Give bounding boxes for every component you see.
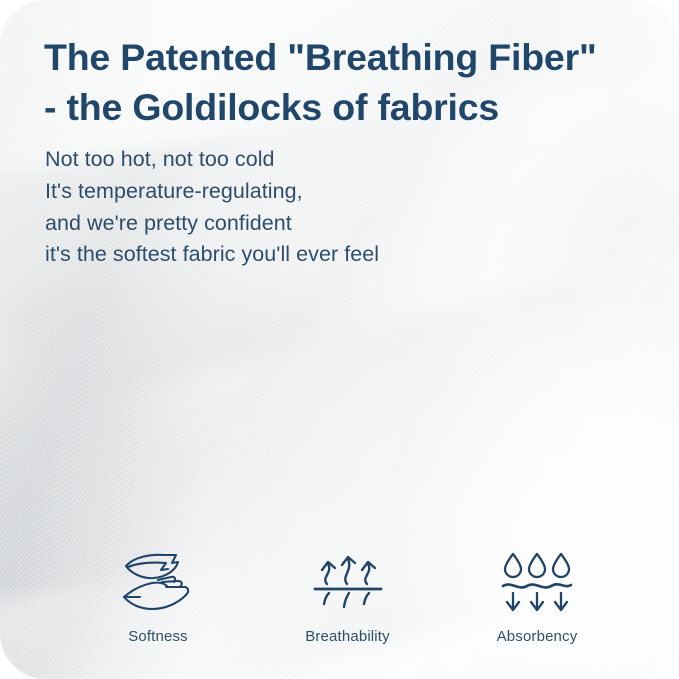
water-droplets-absorbing-icon (499, 551, 575, 613)
feature-label: Absorbency (497, 628, 578, 645)
banner-content: The Patented "Breathing Fiber" - the Gol… (0, 0, 679, 679)
feature-label: Softness (128, 628, 188, 645)
fabric-feature-banner: The Patented "Breathing Fiber" - the Gol… (0, 0, 679, 679)
feature-breathability: Breathability (268, 551, 428, 645)
feature-softness: Softness (78, 551, 238, 645)
headline: The Patented "Breathing Fiber" - the Gol… (44, 33, 654, 133)
feather-on-hand-icon (120, 551, 196, 613)
feature-list: Softness (78, 551, 617, 645)
feature-absorbency: Absorbency (457, 551, 617, 645)
subcopy: Not too hot, not too cold It's temperatu… (45, 144, 515, 271)
feature-label: Breathability (305, 628, 390, 645)
rising-airflow-arrows-icon (312, 551, 384, 613)
